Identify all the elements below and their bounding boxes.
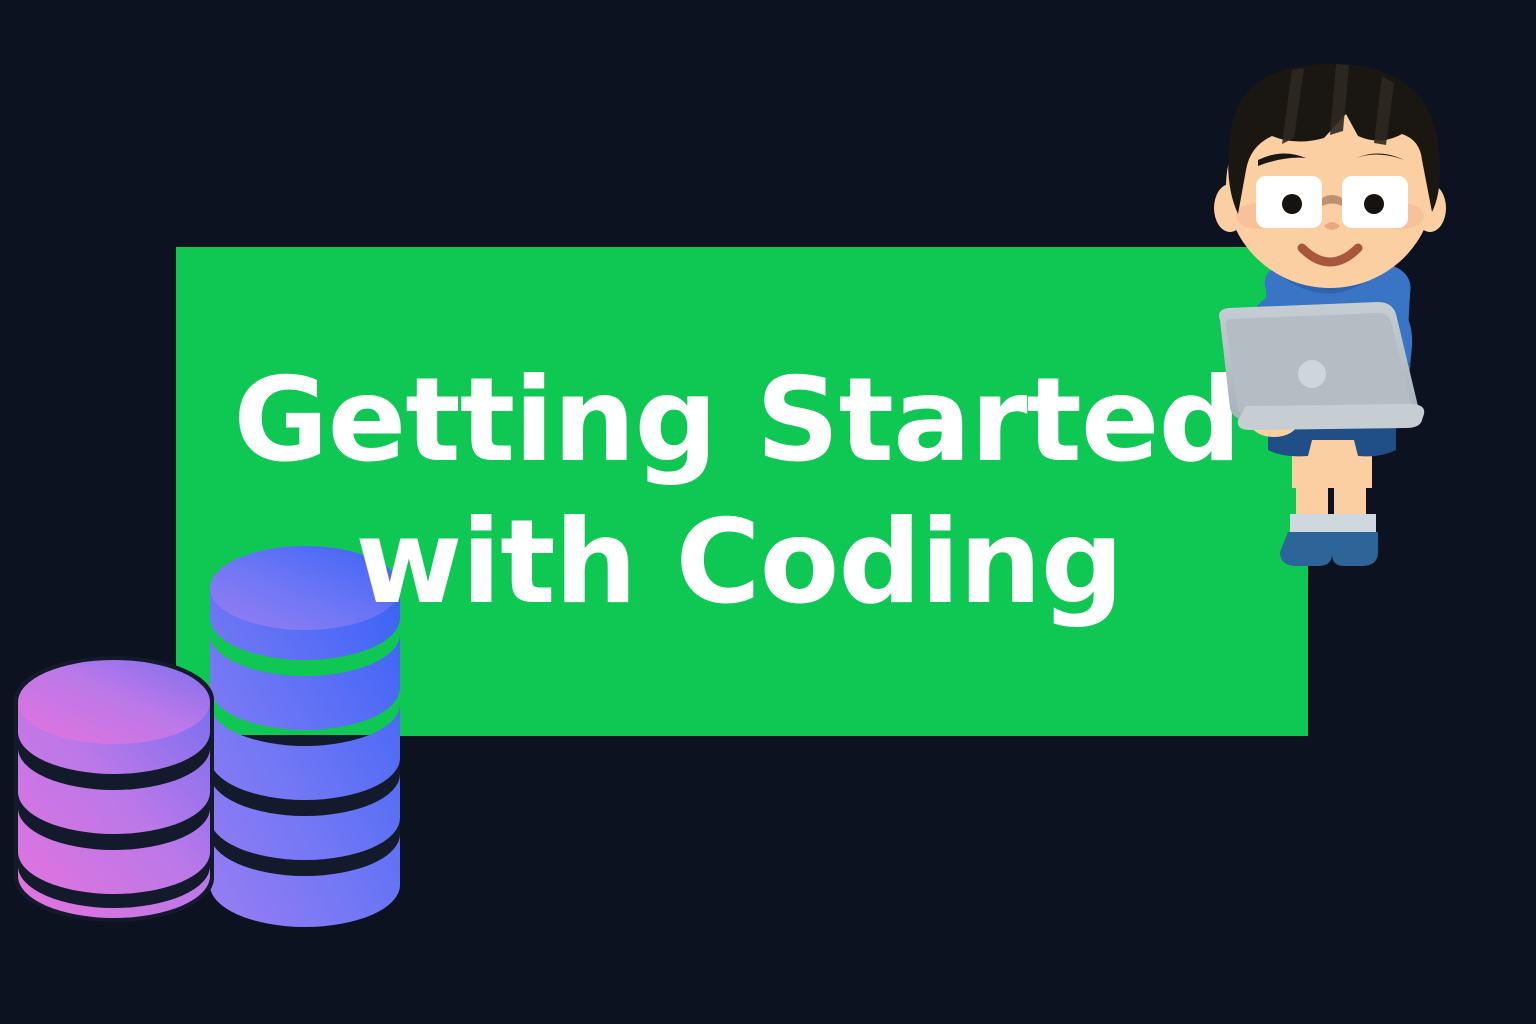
purple-database-stack (14, 656, 214, 922)
database-stack-icon (0, 540, 420, 940)
blue-database-stack (210, 546, 400, 927)
shoes (1280, 532, 1378, 566)
person-with-laptop-icon (1196, 58, 1464, 578)
laptop-icon (1219, 302, 1424, 430)
poster-canvas: Getting Started with Coding (0, 0, 1536, 1024)
